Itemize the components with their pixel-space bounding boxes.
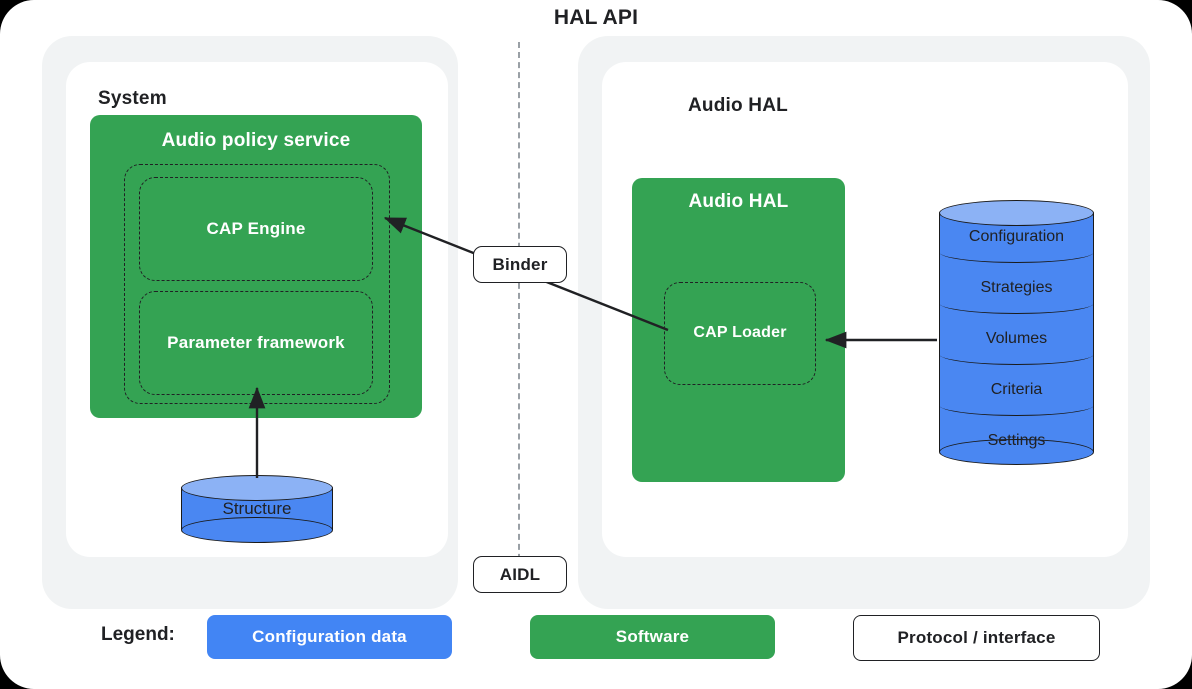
cap-loader-label: CAP Loader [665,324,815,342]
config-datastore-stacked-cylinder: Configuration Strategies Volumes Criteri… [939,200,1094,465]
audio-policy-service-title: Audio policy service [90,130,422,152]
stack-label-settings: Settings [939,432,1094,450]
hal-api-boundary-divider [518,42,520,590]
diagram-title: HAL API [0,6,1192,30]
cylinder-top-ellipse [181,475,333,501]
cap-loader-box: CAP Loader [664,282,816,385]
binder-interface-pill[interactable]: Binder [473,246,567,283]
structure-label: Structure [181,499,333,519]
legend-item-configuration-data: Configuration data [207,615,452,659]
aidl-interface-pill[interactable]: AIDL [473,556,567,593]
audio-policy-service-inner-group: CAP Engine Parameter framework [124,164,390,404]
stack-top-ellipse [939,200,1094,226]
stack-label-strategies: Strategies [939,279,1094,297]
stack-label-volumes: Volumes [939,330,1094,348]
cylinder-bottom-ellipse [181,517,333,543]
cap-engine-box: CAP Engine [139,177,373,281]
cap-engine-label: CAP Engine [140,219,372,239]
audio-hal-panel-title: Audio HAL [688,95,788,117]
stack-label-configuration: Configuration [939,228,1094,246]
parameter-framework-label: Parameter framework [140,333,372,353]
audio-hal-software-title: Audio HAL [632,191,845,213]
audio-hal-software-box: Audio HAL CAP Loader [632,178,845,482]
stack-label-criteria: Criteria [939,381,1094,399]
parameter-framework-box: Parameter framework [139,291,373,395]
legend: Legend: Configuration data Software Prot… [0,612,1192,662]
legend-item-software: Software [530,615,775,659]
diagram-canvas: HAL API System Audio HAL Audio policy se… [0,0,1192,689]
system-panel-title: System [98,88,167,110]
legend-title: Legend: [101,624,175,646]
structure-datastore-cylinder: Structure [181,475,333,543]
legend-item-protocol-interface: Protocol / interface [853,615,1100,661]
audio-policy-service-box: Audio policy service CAP Engine Paramete… [90,115,422,418]
